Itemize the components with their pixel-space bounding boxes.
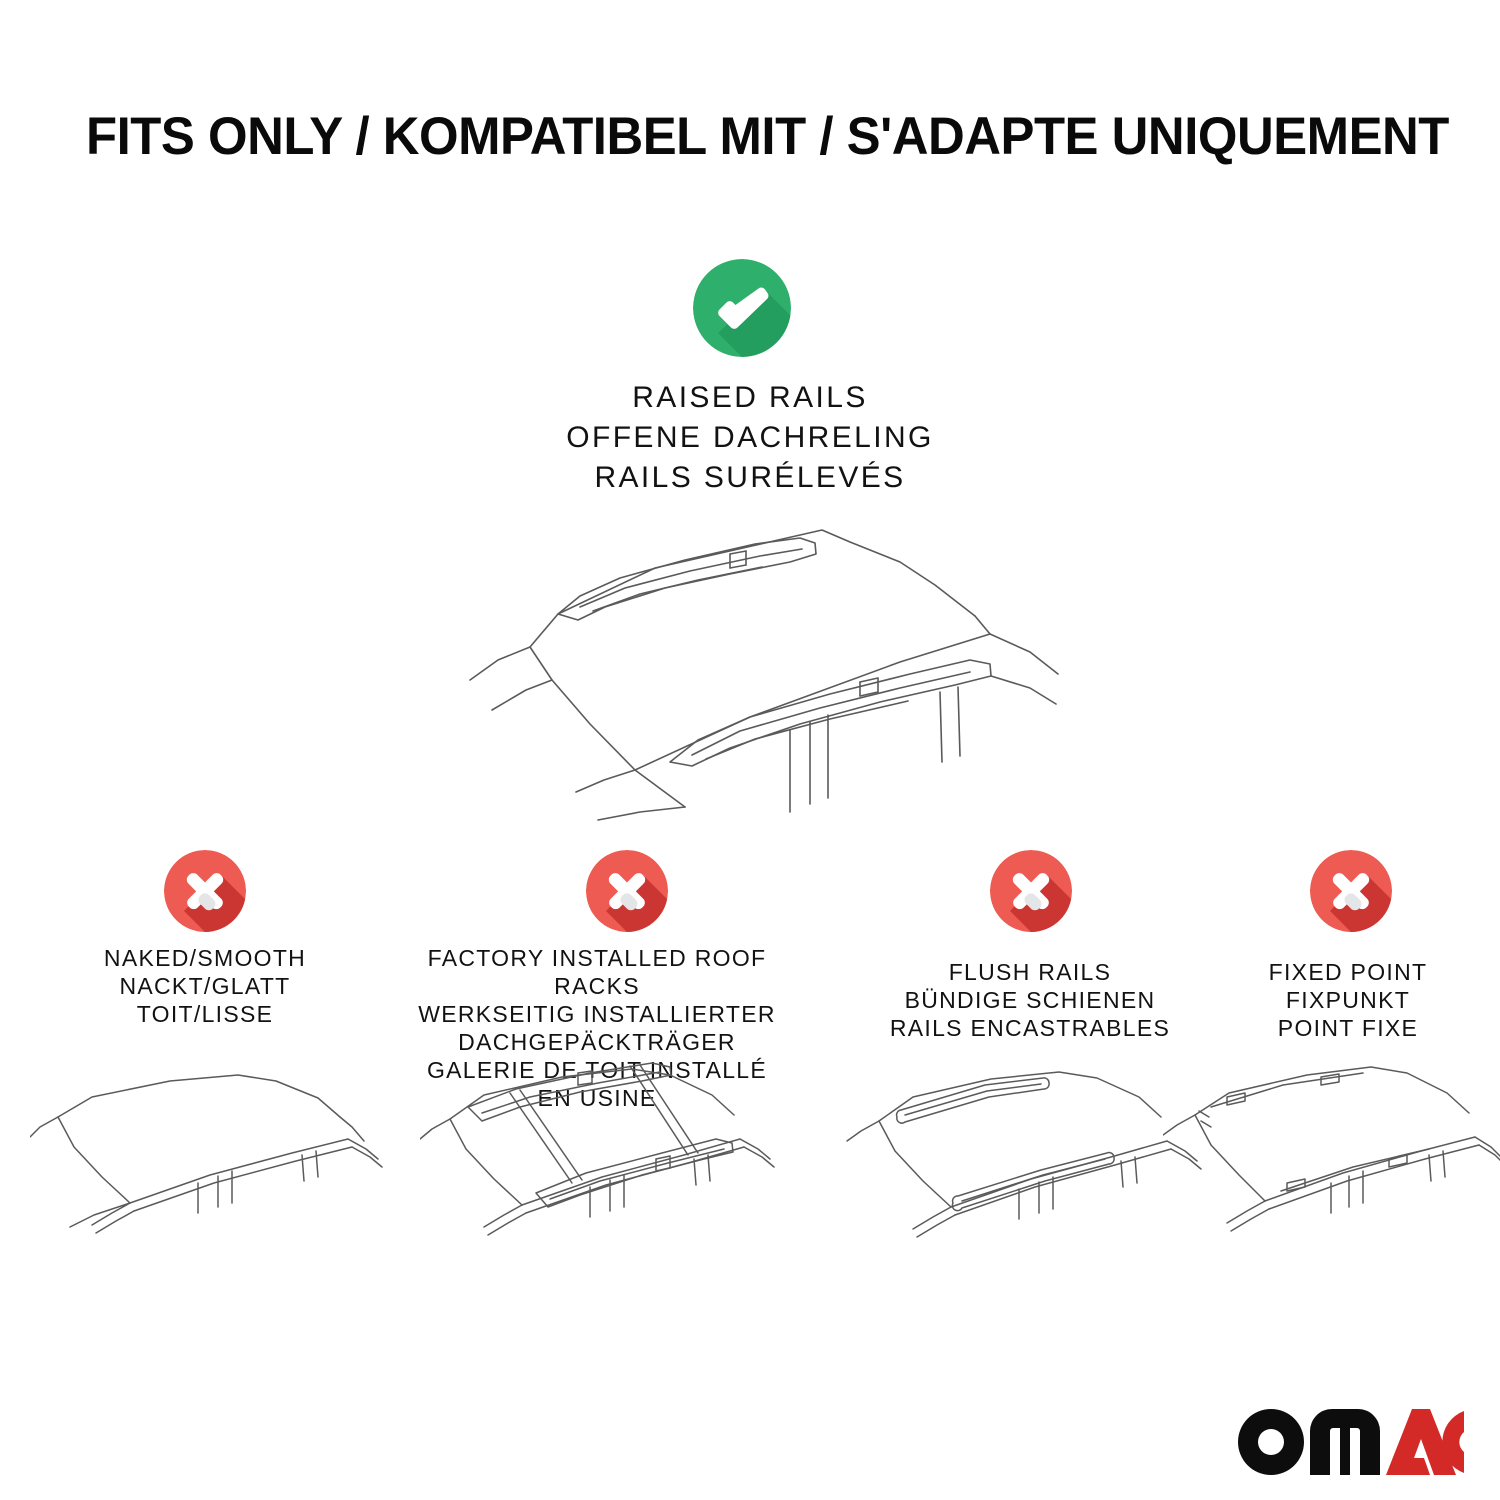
incompatible-item-fixed-point: FIXED POINT FIXPUNKT POINT FIXE <box>1163 850 1500 1290</box>
compatible-caption-line-fr: RAILS SURÉLEVÉS <box>400 458 1100 498</box>
page-title: FITS ONLY / KOMPATIBEL MIT / S'ADAPTE UN… <box>86 108 1372 166</box>
compatible-caption-line-de: OFFENE DACHRELING <box>400 418 1100 458</box>
red-cross-circle-icon <box>164 850 246 932</box>
compatible-caption: RAISED RAILS OFFENE DACHRELING RAILS SUR… <box>400 378 1100 498</box>
car-roof-fixed-point-sketch <box>1163 1055 1500 1285</box>
car-roof-naked-smooth-sketch <box>30 1055 400 1285</box>
compatibility-infographic: FITS ONLY / KOMPATIBEL MIT / S'ADAPTE UN… <box>0 0 1500 1500</box>
red-cross-circle-icon <box>1310 850 1392 932</box>
car-roof-with-raised-rails-sketch <box>430 512 1080 822</box>
red-cross-circle-icon <box>586 850 668 932</box>
omac-logo <box>1238 1409 1464 1475</box>
logo-letter-m <box>1310 1409 1380 1475</box>
incompatible-item-naked-smooth: NAKED/SMOOTH NACKT/GLATT TOIT/LISSE <box>20 850 390 1290</box>
incompatible-caption: NAKED/SMOOTH NACKT/GLATT TOIT/LISSE <box>20 944 390 1028</box>
incompatible-caption: FLUSH RAILS BÜNDIGE SCHIENEN RAILS ENCAS… <box>845 958 1215 1042</box>
compatible-caption-line-en: RAISED RAILS <box>400 378 1100 418</box>
incompatible-caption: FIXED POINT FIXPUNKT POINT FIXE <box>1163 958 1500 1042</box>
car-roof-flush-rails-sketch <box>845 1055 1215 1285</box>
incompatible-item-factory-roof-racks: FACTORY INSTALLED ROOF RACKS WERKSEITIG … <box>412 850 782 1290</box>
logo-letter-o <box>1238 1409 1304 1475</box>
green-check-circle-icon <box>693 259 791 357</box>
car-roof-factory-roof-racks-sketch <box>420 1055 790 1285</box>
incompatible-item-flush-rails: FLUSH RAILS BÜNDIGE SCHIENEN RAILS ENCAS… <box>845 850 1215 1290</box>
red-cross-circle-icon <box>990 850 1072 932</box>
